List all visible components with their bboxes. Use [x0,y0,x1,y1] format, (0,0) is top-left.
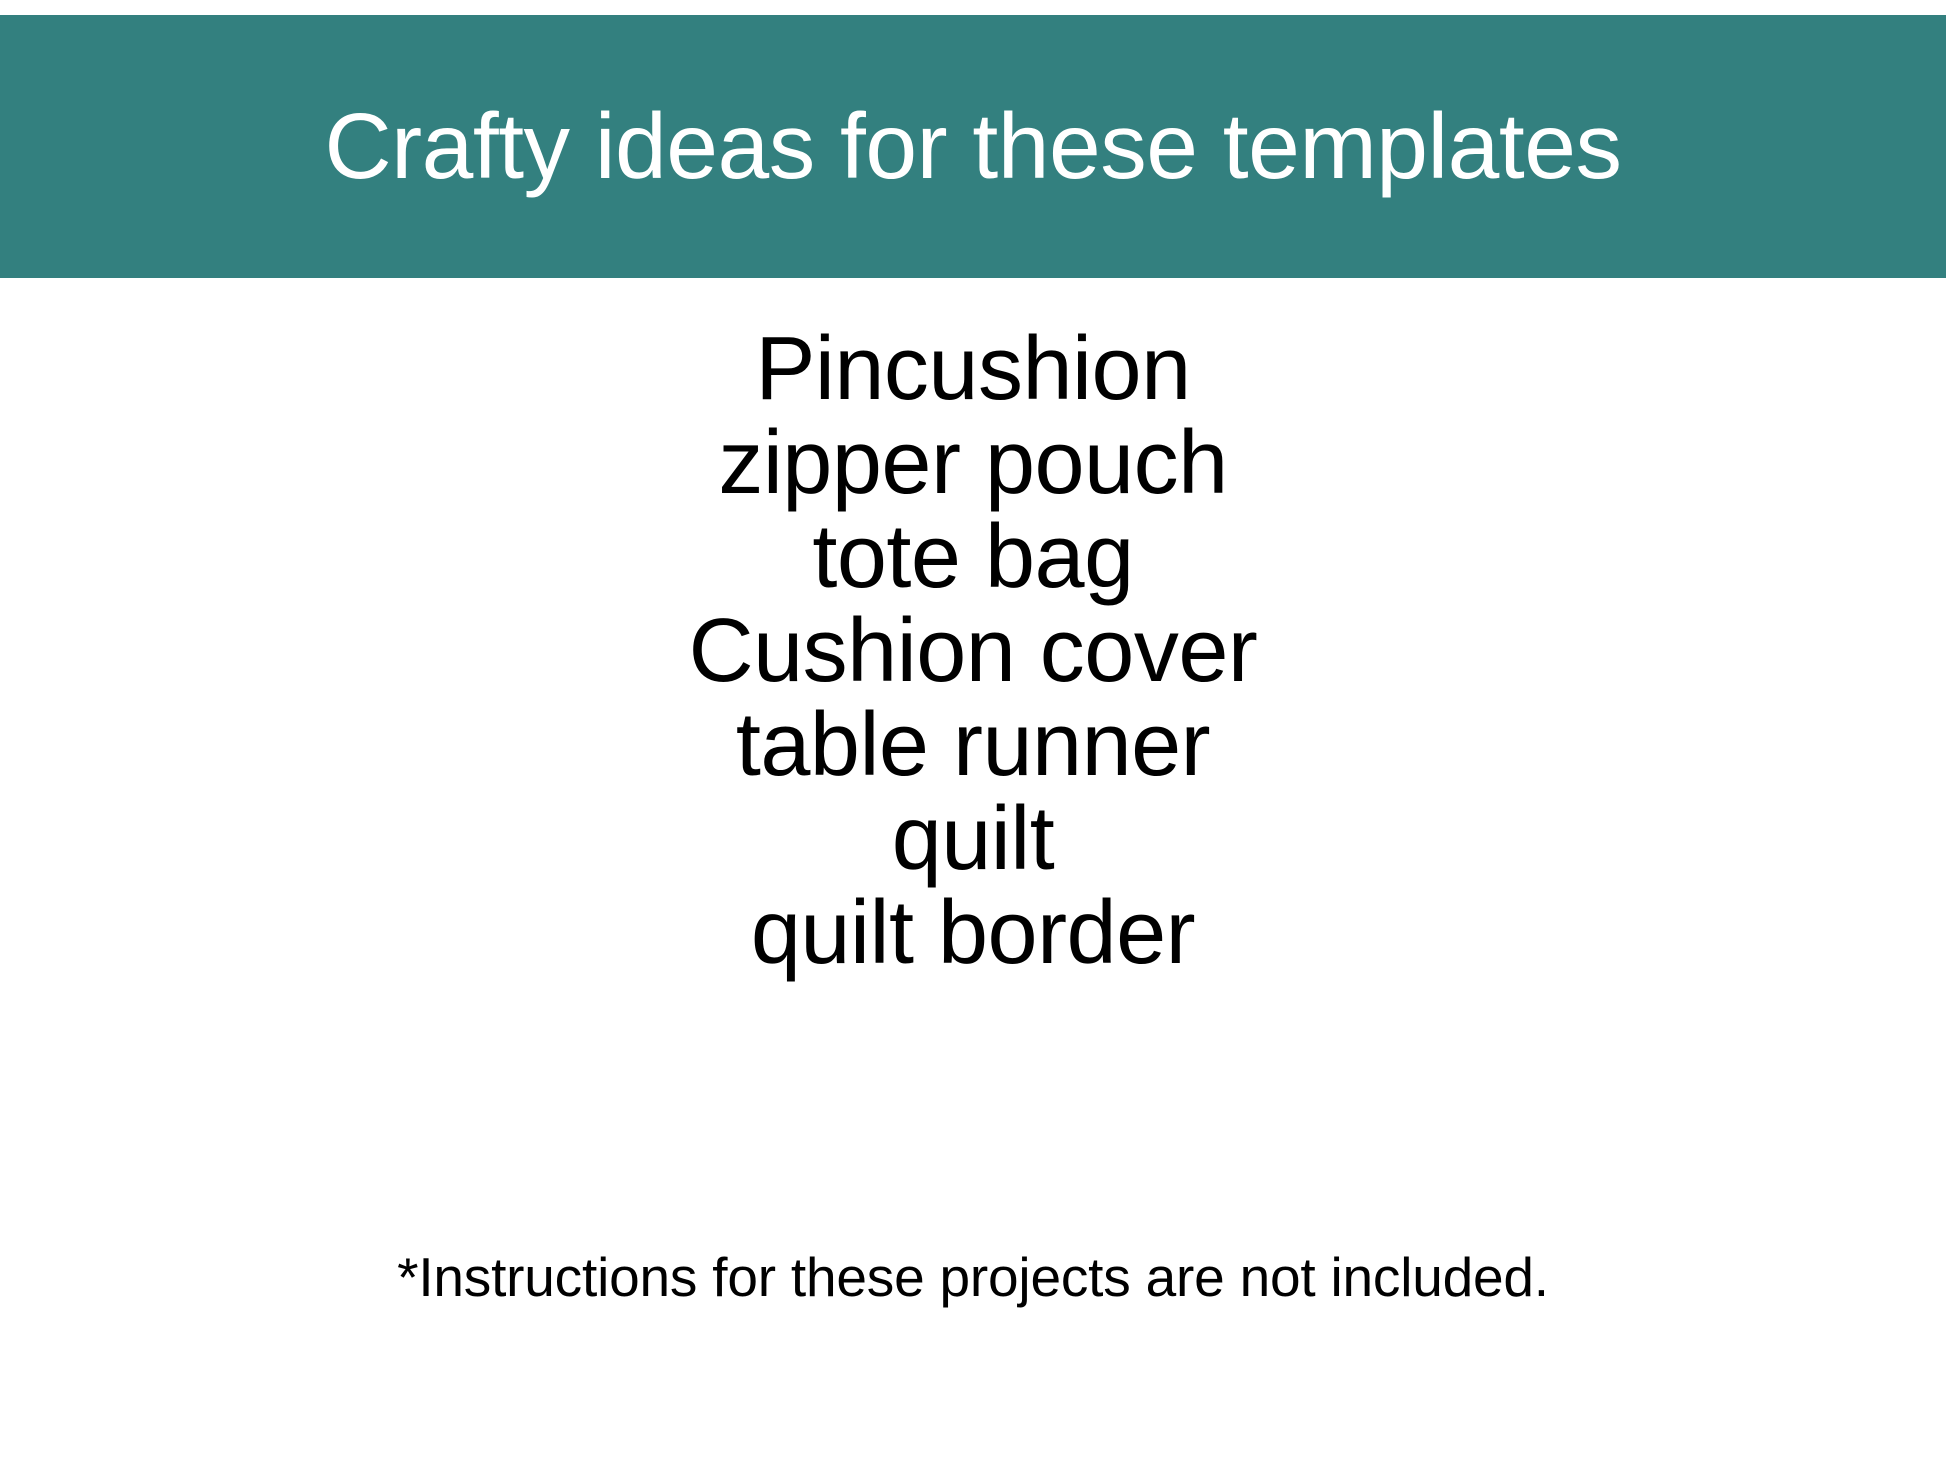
list-item: tote bag [0,510,1946,604]
list-item: Pincushion [0,322,1946,416]
footnote-text: *Instructions for these projects are not… [0,1244,1946,1310]
list-item: quilt border [0,886,1946,980]
craft-ideas-list: Pincushion zipper pouch tote bag Cushion… [0,322,1946,980]
list-item-label: table runner [736,695,1210,795]
page-title: Crafty ideas for these templates [325,100,1622,193]
list-item-label: tote bag [812,507,1133,607]
list-item-label: zipper pouch [718,413,1227,513]
list-item: zipper pouch [0,416,1946,510]
list-item: quilt [0,792,1946,886]
list-item: table runner [0,698,1946,792]
list-item: Cushion cover [0,604,1946,698]
title-banner: Crafty ideas for these templates [0,15,1946,278]
slide-canvas: Crafty ideas for these templates Pincush… [0,0,1946,1460]
list-item-label: quilt border [751,883,1195,983]
list-item-label: Cushion cover [689,601,1258,701]
list-item-label: Pincushion [755,319,1190,419]
list-item-label: quilt [892,789,1055,889]
